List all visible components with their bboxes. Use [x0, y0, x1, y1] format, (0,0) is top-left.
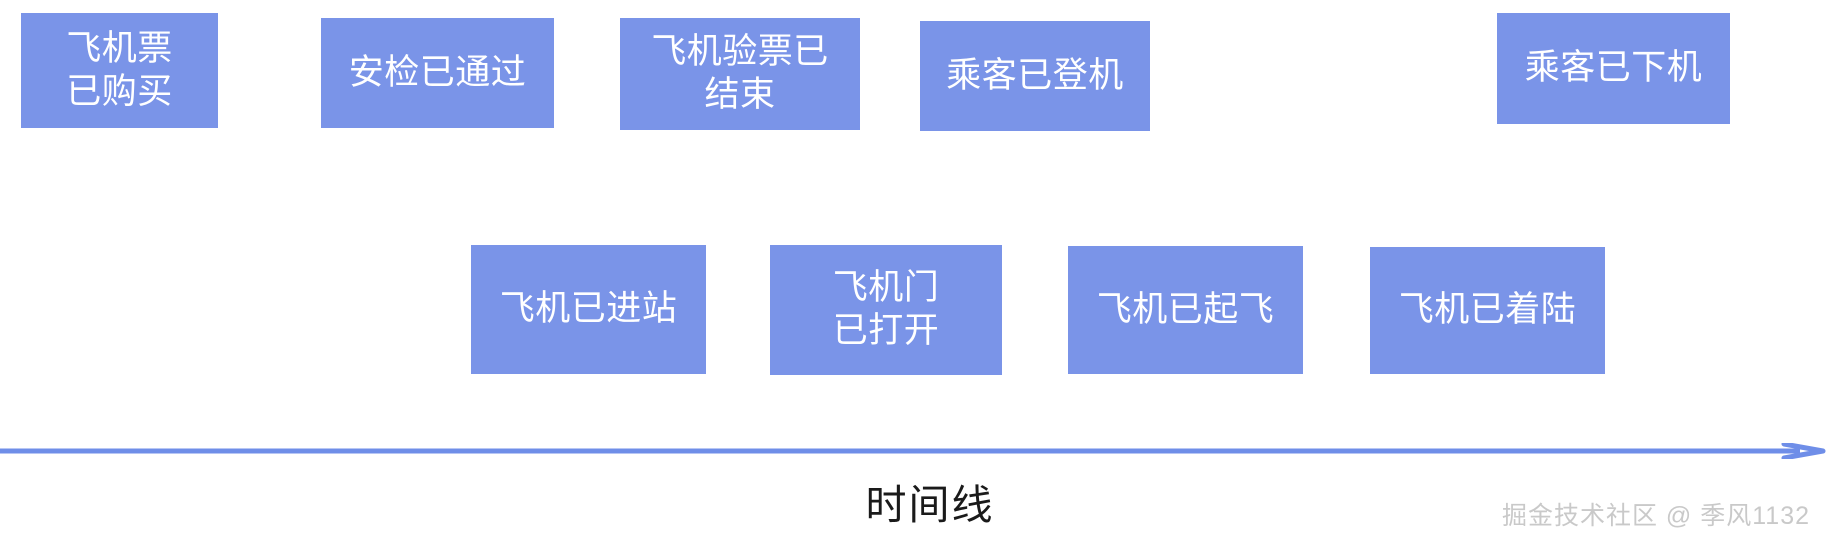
- event-box[interactable]: 乘客已登机: [920, 21, 1150, 131]
- event-box[interactable]: 飞机已进站: [471, 245, 706, 374]
- event-box[interactable]: 飞机票 已购买: [21, 13, 218, 128]
- event-box[interactable]: 飞机门 已打开: [770, 245, 1002, 375]
- event-box[interactable]: 飞机已着陆: [1370, 247, 1605, 374]
- timeline-diagram: 飞机票 已购买安检已通过飞机验票已 结束乘客已登机乘客已下机 飞机已进站飞机门 …: [0, 0, 1827, 543]
- event-box[interactable]: 飞机已起飞: [1068, 246, 1303, 374]
- timeline-arrow: [0, 443, 1827, 459]
- event-box[interactable]: 飞机验票已 结束: [620, 18, 860, 130]
- event-box[interactable]: 乘客已下机: [1497, 13, 1730, 124]
- event-box[interactable]: 安检已通过: [321, 18, 554, 128]
- watermark-text: 掘金技术社区 @ 季风1132: [1502, 500, 1810, 532]
